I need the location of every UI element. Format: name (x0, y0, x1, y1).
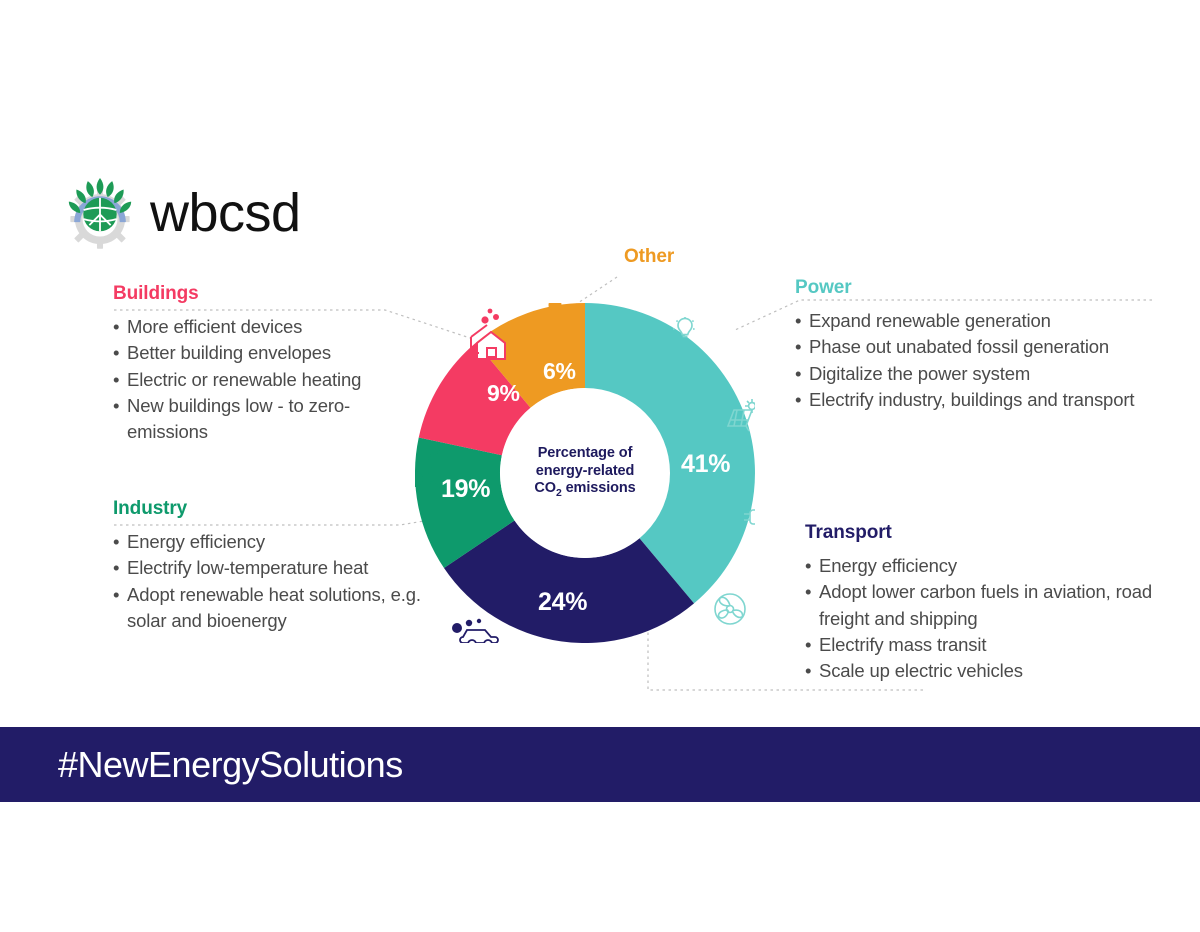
list-item: Scale up electric vehicles (805, 658, 1155, 684)
list-item: Digitalize the power system (795, 361, 1165, 387)
callout-power-list: Expand renewable generation Phase out un… (795, 308, 1165, 413)
center-line-2: energy-related (505, 463, 665, 481)
callout-transport-title: Transport (805, 522, 1155, 544)
wbcsd-globe-leaf-gear-logo (62, 175, 138, 251)
list-item: Electrify industry, buildings and transp… (795, 387, 1165, 413)
hashtag-banner: #NewEnergySolutions (0, 727, 1200, 802)
callout-industry: Industry Energy efficiency Electrify low… (113, 498, 443, 634)
list-item: Phase out unabated fossil generation (795, 334, 1165, 360)
callout-other: Other (624, 246, 744, 268)
slice-label-power: 41% (681, 450, 730, 479)
list-item: Expand renewable generation (795, 308, 1165, 334)
callout-buildings-title: Buildings (113, 283, 413, 305)
callout-power-title: Power (795, 277, 1165, 299)
center-line-3: CO2 emissions (505, 480, 665, 501)
donut-chart: 41% 24% 19% 9% 6% Percentage of energy-r… (415, 303, 755, 643)
slice-label-buildings: 9% (487, 380, 520, 407)
car-icon (452, 619, 498, 643)
list-item: Energy efficiency (805, 553, 1155, 579)
list-item: Electrify mass transit (805, 632, 1155, 658)
list-item: More efficient devices (113, 314, 413, 340)
wbcsd-logo: wbcsd (62, 168, 382, 258)
center-line-1: Percentage of (505, 445, 665, 463)
hashtag-text: #NewEnergySolutions (58, 744, 403, 786)
callout-buildings: Buildings More efficient devices Better … (113, 283, 413, 445)
callout-buildings-list: More efficient devices Better building e… (113, 314, 413, 445)
callout-industry-list: Energy efficiency Electrify low-temperat… (113, 529, 443, 634)
callout-transport-list: Energy efficiency Adopt lower carbon fue… (805, 553, 1155, 684)
list-item: Adopt lower carbon fuels in aviation, ro… (805, 579, 1155, 632)
callout-power: Power Expand renewable generation Phase … (795, 277, 1165, 413)
list-item: Energy efficiency (113, 529, 443, 555)
list-item: Better building envelopes (113, 340, 413, 366)
logo-wordmark: wbcsd (150, 186, 301, 240)
slice-label-other: 6% (543, 358, 576, 385)
slice-label-transport: 24% (538, 588, 587, 617)
list-item: Adopt renewable heat solutions, e.g. sol… (113, 582, 443, 635)
chart-center-label: Percentage of energy-related CO2 emissio… (505, 445, 665, 501)
list-item: Electric or renewable heating (113, 367, 413, 393)
callout-industry-title: Industry (113, 498, 443, 520)
slice-label-industry: 19% (441, 475, 490, 504)
callout-transport: Transport Energy efficiency Adopt lower … (805, 522, 1155, 684)
emission-bubbles-icon (543, 303, 563, 331)
wind-turbine-icon (715, 594, 745, 624)
callout-other-title: Other (624, 246, 744, 268)
list-item: Electrify low-temperature heat (113, 555, 443, 581)
list-item: New buildings low - to zero-emissions (113, 393, 413, 446)
